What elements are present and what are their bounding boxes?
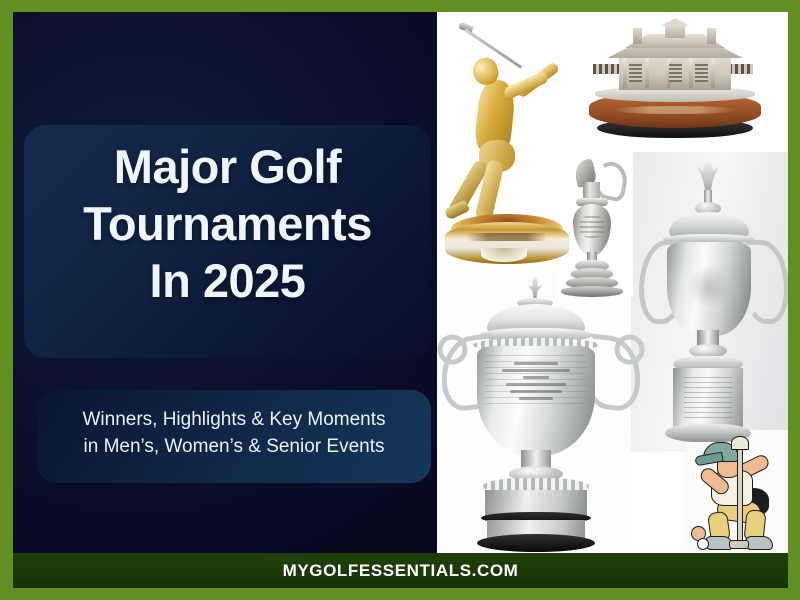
players-championship-statuette-icon	[437, 18, 577, 268]
us-open-bowl	[667, 242, 751, 336]
illustration-right-shoe	[745, 536, 773, 550]
frame-right-border	[788, 0, 800, 600]
masters-chimney-left	[633, 28, 642, 44]
illustration-golf-ball	[697, 538, 709, 550]
inscription-line-5	[510, 390, 561, 393]
title-line-1: Major Golf	[24, 139, 431, 196]
site-url: MYGOLFESSENTIALS.COM	[283, 561, 519, 581]
statuette-base-engraving	[467, 233, 547, 241]
trophy-collage	[437, 12, 788, 553]
title-line-3: In 2025	[24, 253, 431, 310]
illustration-putter-head	[729, 540, 749, 549]
frame-top-border	[0, 0, 800, 12]
frame-left-border	[0, 0, 13, 600]
page-title: Major Golf Tournaments In 2025	[24, 139, 431, 310]
page-subtitle: Winners, Highlights & Key Moments in Men…	[37, 407, 431, 461]
title-line-2: Tournaments	[24, 196, 431, 253]
inscription-line-4	[506, 383, 565, 386]
masters-clubhouse-trophy-icon	[579, 20, 767, 142]
wanamaker-black-ring-2	[477, 534, 595, 552]
wanamaker-inscription	[497, 362, 575, 416]
masters-column-5	[711, 56, 715, 88]
footer-bar: MYGOLFESSENTIALS.COM	[13, 553, 788, 588]
us-open-pedestal	[673, 368, 743, 430]
title-card: Major Golf Tournaments In 2025	[24, 125, 431, 358]
text-panel: Major Golf Tournaments In 2025 Winners, …	[13, 12, 437, 553]
golfer-illustration-icon	[687, 432, 787, 553]
subtitle-line-2: in Men’s, Women’s & Senior Events	[37, 434, 431, 461]
wanamaker-trophy-icon	[443, 274, 631, 552]
inscription-line-3	[523, 376, 550, 379]
masters-column-1	[623, 56, 627, 88]
masters-chimney-right	[707, 28, 716, 44]
illustration-club-grip	[731, 436, 749, 450]
inscription-line-1	[514, 362, 558, 365]
masters-window-left	[629, 62, 642, 82]
claret-bowl	[573, 204, 611, 256]
us-open-winged-figure	[697, 160, 719, 194]
wanamaker-golfer-finial	[527, 276, 543, 300]
inscription-line-6	[519, 397, 553, 400]
masters-column-4	[689, 56, 693, 88]
masters-column-2	[645, 56, 649, 88]
subtitle-line-1: Winners, Highlights & Key Moments	[37, 407, 431, 434]
poster: Major Golf Tournaments In 2025 Winners, …	[0, 0, 800, 600]
masters-window-center	[669, 62, 682, 82]
subtitle-card: Winners, Highlights & Key Moments in Men…	[37, 390, 431, 483]
masters-window-right	[695, 62, 708, 82]
us-open-trophy-icon	[633, 158, 785, 450]
illustration-club-shaft	[737, 440, 743, 544]
frame-bottom-border	[0, 588, 800, 600]
statuette-base-notch	[481, 248, 527, 262]
inscription-line-2	[502, 369, 571, 372]
